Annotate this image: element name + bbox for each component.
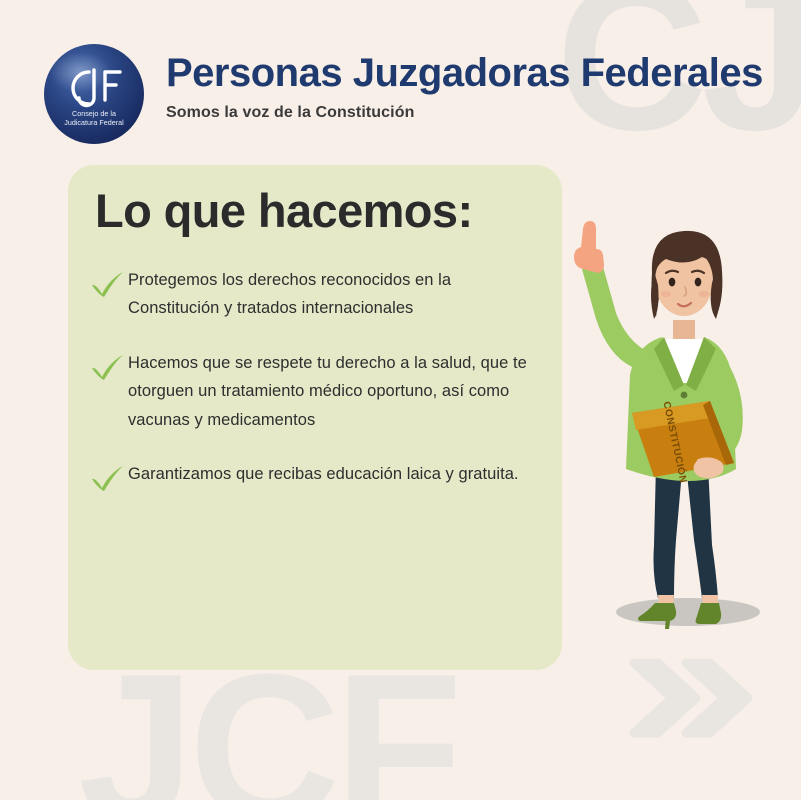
check-icon (88, 353, 128, 383)
figure-shadow (616, 598, 760, 626)
list-item-label: Garantizamos que recibas educación laica… (128, 459, 519, 488)
cjf-logo: Consejo de la Judicatura Federal (42, 42, 146, 146)
page-header: Consejo de la Judicatura Federal Persona… (42, 40, 762, 150)
page-subtitle: Somos la voz de la Constitución (166, 104, 763, 122)
header-text-block: Personas Juzgadoras Federales Somos la v… (166, 52, 763, 122)
card-heading: Lo que hacemos: (95, 183, 473, 238)
woman-holding-constitution-illustration: CONSTITUCIÓN (570, 215, 801, 635)
watermark-double-chevron-icon (628, 655, 758, 746)
page-title: Personas Juzgadoras Federales (166, 52, 763, 94)
list-item: Protegemos los derechos reconocidos en l… (88, 265, 543, 323)
bullet-list: Protegemos los derechos reconocidos en l… (88, 265, 543, 519)
list-item: Hacemos que se respete tu derecho a la s… (88, 348, 543, 434)
check-icon (88, 270, 128, 300)
poster-canvas: CJF JCF (0, 0, 801, 800)
logo-caption-line2: Judicatura Federal (64, 118, 124, 127)
what-we-do-card: Lo que hacemos: Protegemos los derechos … (68, 165, 562, 670)
check-icon (88, 464, 128, 494)
list-item-label: Protegemos los derechos reconocidos en l… (128, 265, 543, 323)
logo-caption-line1: Consejo de la (72, 109, 116, 118)
list-item-label: Hacemos que se respete tu derecho a la s… (128, 348, 543, 434)
list-item: Garantizamos que recibas educación laica… (88, 459, 543, 494)
